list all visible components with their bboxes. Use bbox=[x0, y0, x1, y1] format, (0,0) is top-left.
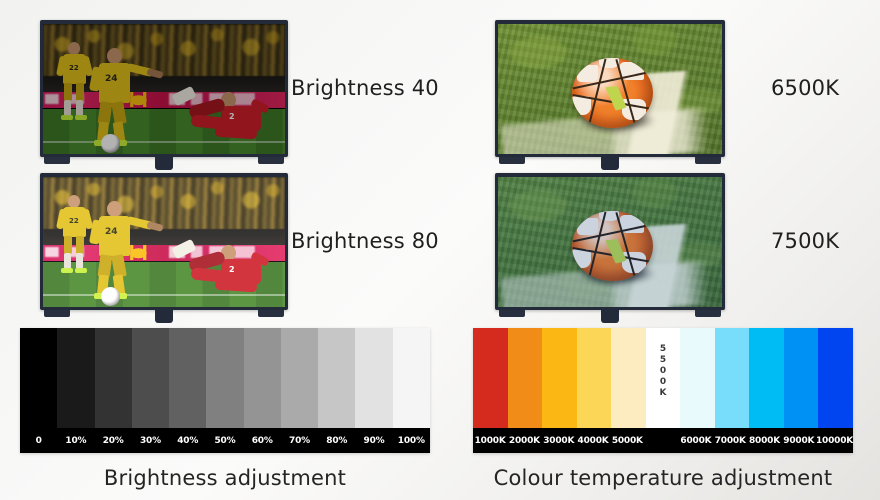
colour-tick-label: 7000K bbox=[713, 428, 747, 453]
marker-char: 5 bbox=[660, 355, 666, 366]
colour-tick-label: 6000K bbox=[679, 428, 713, 453]
grayscale-tick-label: 60% bbox=[244, 428, 281, 453]
tv-foot-center bbox=[155, 310, 173, 323]
colour-swatch bbox=[473, 328, 508, 428]
colour-tick-label: 10000K bbox=[816, 428, 853, 453]
colour-swatch bbox=[577, 328, 612, 428]
tv-colour-7500k bbox=[495, 173, 725, 310]
colour-tick-label: 1000K bbox=[473, 428, 507, 453]
soccer-ball bbox=[572, 58, 653, 128]
colour-swatch bbox=[749, 328, 784, 428]
grayscale-swatch bbox=[169, 328, 206, 428]
grayscale-swatch bbox=[206, 328, 243, 428]
marker-5500k-label: 5 5 0 0 K bbox=[660, 344, 667, 399]
marker-char: 0 bbox=[660, 377, 666, 388]
tv-bezel: 22 24 bbox=[40, 173, 288, 310]
player-defender-2: 2 bbox=[163, 84, 273, 146]
slide-canvas: 22 bbox=[0, 0, 880, 500]
grayscale-tick-label: 90% bbox=[355, 428, 392, 453]
grayscale-tick-label: 30% bbox=[132, 428, 169, 453]
grayscale-tick-label: 0 bbox=[20, 428, 57, 453]
tv-foot-center bbox=[601, 157, 619, 170]
tv-screen bbox=[498, 177, 722, 307]
tv-screen bbox=[498, 24, 722, 154]
player-defender-2: 2 bbox=[163, 237, 273, 299]
colour-temperature-strip: 5 5 0 0 K 1000K 2000K 3000K 4000K 5000K … bbox=[473, 328, 853, 453]
grayscale-swatch bbox=[132, 328, 169, 428]
caption-brightness: Brightness adjustment bbox=[20, 466, 430, 490]
football-ball bbox=[101, 287, 120, 306]
grayscale-tick-label: 80% bbox=[318, 428, 355, 453]
tv-screen: 22 24 bbox=[43, 177, 285, 307]
marker-char: 5 bbox=[660, 344, 666, 355]
colour-tick-label: 4000K bbox=[576, 428, 610, 453]
colour-swatch bbox=[542, 328, 577, 428]
grayscale-step-wedge: 0 10% 20% 30% 40% 50% 60% 70% 80% 90% 10… bbox=[20, 328, 430, 453]
tv-foot-right bbox=[695, 157, 721, 164]
grayscale-swatch bbox=[318, 328, 355, 428]
colour-temperature-swatches: 5 5 0 0 K bbox=[473, 328, 853, 428]
grayscale-swatch bbox=[393, 328, 430, 428]
grayscale-tick-label: 20% bbox=[95, 428, 132, 453]
tv-screen: 22 bbox=[43, 24, 285, 154]
colour-swatch bbox=[784, 328, 819, 428]
player-foreground-24: 24 bbox=[85, 48, 161, 148]
tv-foot-right bbox=[258, 310, 284, 317]
soccer-ball bbox=[572, 211, 653, 281]
football-ball bbox=[101, 134, 120, 153]
grayscale-tick-label: 100% bbox=[393, 428, 430, 453]
grayscale-tick-label: 50% bbox=[206, 428, 243, 453]
colour-swatch bbox=[818, 328, 853, 428]
colour-tick-label: 9000K bbox=[782, 428, 816, 453]
tv-stand bbox=[40, 157, 288, 169]
tv-brightness-40: 22 bbox=[40, 20, 288, 157]
tv-foot-left bbox=[499, 157, 525, 164]
grayscale-tick-label: 10% bbox=[57, 428, 94, 453]
grayscale-swatch bbox=[57, 328, 94, 428]
grayscale-label-bar: 0 10% 20% 30% 40% 50% 60% 70% 80% 90% 10… bbox=[20, 428, 430, 453]
tv-foot-right bbox=[695, 310, 721, 317]
colour-tick-label: 8000K bbox=[747, 428, 781, 453]
grayscale-swatch bbox=[355, 328, 392, 428]
scene-ball-on-grass bbox=[498, 24, 722, 154]
tv-bezel: 22 bbox=[40, 20, 288, 157]
scene-ball-on-grass bbox=[498, 177, 722, 307]
scene-football: 22 bbox=[43, 24, 285, 154]
tv-foot-right bbox=[258, 157, 284, 164]
grayscale-tick-label: 40% bbox=[169, 428, 206, 453]
colour-tick-label: 5000K bbox=[610, 428, 644, 453]
grayscale-swatch bbox=[95, 328, 132, 428]
tv-foot-center bbox=[155, 157, 173, 170]
grayscale-swatch bbox=[20, 328, 57, 428]
colour-swatch bbox=[680, 328, 715, 428]
colour-swatch-5500k: 5 5 0 0 K bbox=[646, 328, 681, 428]
colour-swatch bbox=[508, 328, 543, 428]
tv-brightness-80: 22 24 bbox=[40, 173, 288, 310]
colour-swatch bbox=[715, 328, 750, 428]
label-brightness-80: Brightness 80 bbox=[291, 229, 439, 253]
tv-foot-left bbox=[44, 310, 70, 317]
tv-stand bbox=[40, 310, 288, 322]
tv-bezel bbox=[495, 20, 725, 157]
tv-colour-6500k bbox=[495, 20, 725, 157]
tv-foot-center bbox=[601, 310, 619, 323]
colour-tick-label: 3000K bbox=[542, 428, 576, 453]
marker-char: 0 bbox=[660, 366, 666, 377]
player-foreground-24: 24 bbox=[85, 201, 161, 301]
tv-foot-left bbox=[44, 157, 70, 164]
grayscale-swatch bbox=[281, 328, 318, 428]
caption-colour-temperature: Colour temperature adjustment bbox=[463, 466, 863, 490]
colour-swatch bbox=[611, 328, 646, 428]
marker-char: K bbox=[660, 388, 667, 399]
tv-foot-left bbox=[499, 310, 525, 317]
tv-bezel bbox=[495, 173, 725, 310]
colour-tick-label: 2000K bbox=[507, 428, 541, 453]
colour-temperature-label-bar: 1000K 2000K 3000K 4000K 5000K 6000K 7000… bbox=[473, 428, 853, 453]
grayscale-tick-label: 70% bbox=[281, 428, 318, 453]
grayscale-swatch bbox=[244, 328, 281, 428]
scene-football: 22 24 bbox=[43, 177, 285, 307]
label-6500k: 6500K bbox=[771, 76, 839, 100]
label-brightness-40: Brightness 40 bbox=[291, 76, 439, 100]
label-7500k: 7500K bbox=[771, 229, 839, 253]
colour-tick-spacer bbox=[644, 428, 678, 453]
grayscale-swatches bbox=[20, 328, 430, 428]
tv-stand bbox=[495, 157, 725, 169]
tv-stand bbox=[495, 310, 725, 322]
